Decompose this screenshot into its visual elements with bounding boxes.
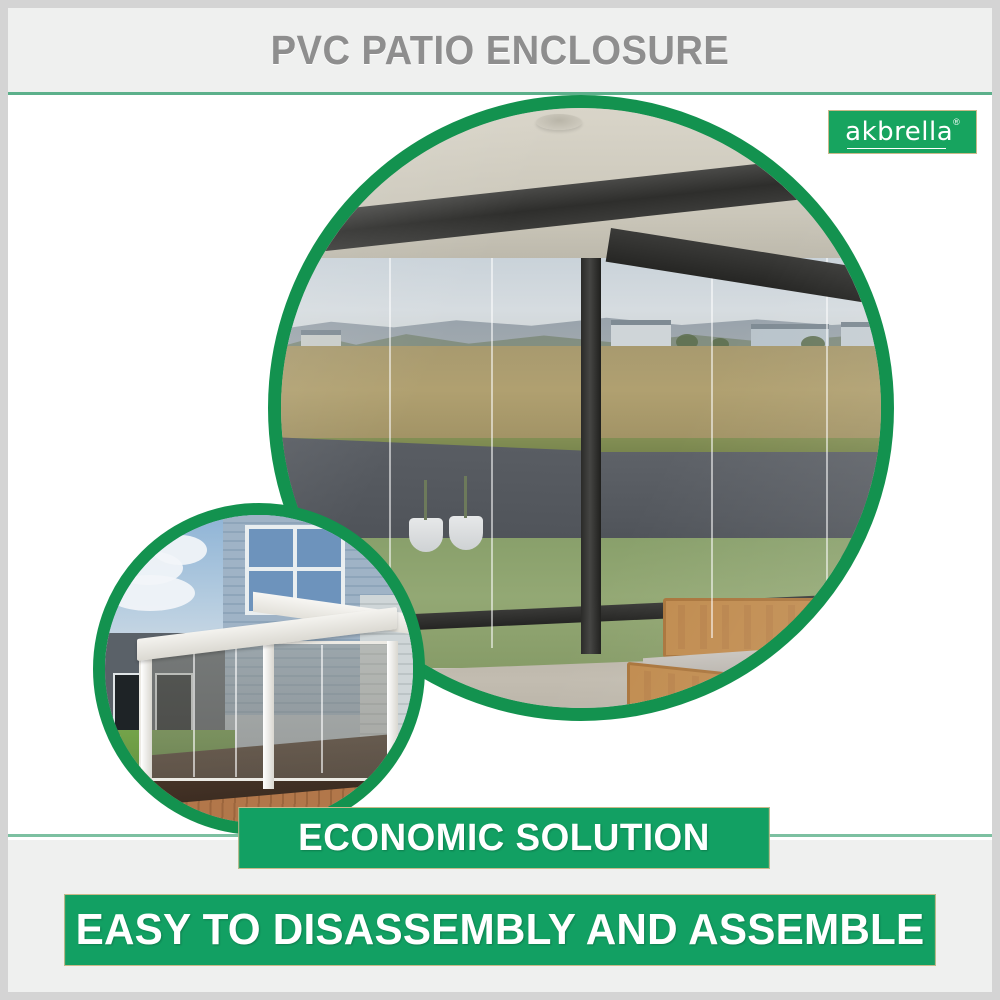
plant-a bbox=[424, 480, 427, 520]
brand-logo-inner: akbrella® bbox=[845, 119, 960, 145]
enclosure-post-corner bbox=[263, 633, 274, 789]
registered-trademark-icon: ® bbox=[953, 117, 960, 127]
poster-canvas: ECONOMIC SOLUTION EASY TO DISASSEMBLY AN… bbox=[8, 8, 992, 992]
pvc-panel-seam-d bbox=[826, 258, 828, 618]
cloud-b bbox=[153, 535, 207, 565]
enclosure-seam-c bbox=[321, 645, 323, 773]
pvc-panel-seam-b bbox=[491, 258, 493, 648]
ceiling-light-icon bbox=[536, 114, 582, 130]
planter-b bbox=[449, 516, 483, 550]
secondary-photo bbox=[93, 503, 425, 835]
corner-post bbox=[581, 234, 601, 654]
enclosure-seam-a bbox=[193, 645, 195, 777]
brand-logo: akbrella® bbox=[828, 110, 977, 154]
brand-logo-underline bbox=[847, 148, 946, 149]
enclosure-post-right bbox=[387, 641, 398, 781]
pvc-panel-seam-c bbox=[711, 258, 713, 638]
enclosure-post-left bbox=[141, 643, 152, 781]
page-title: PVC PATIO ENCLOSURE bbox=[42, 8, 957, 92]
wooden-bench bbox=[633, 598, 863, 721]
enclosure-seam-b bbox=[235, 645, 237, 777]
window-mullion-horizontal bbox=[249, 567, 341, 571]
plant-b bbox=[464, 476, 467, 518]
brand-logo-text: akbrella bbox=[845, 119, 953, 145]
header-bar: PVC PATIO ENCLOSURE bbox=[8, 8, 992, 95]
cloud-c bbox=[105, 575, 195, 611]
planter-a bbox=[409, 518, 443, 552]
banner-easy-to-disassembly-and-assemble: EASY TO DISASSEMBLY AND ASSEMBLE bbox=[64, 894, 936, 966]
banner-economic-solution: ECONOMIC SOLUTION bbox=[238, 807, 770, 869]
